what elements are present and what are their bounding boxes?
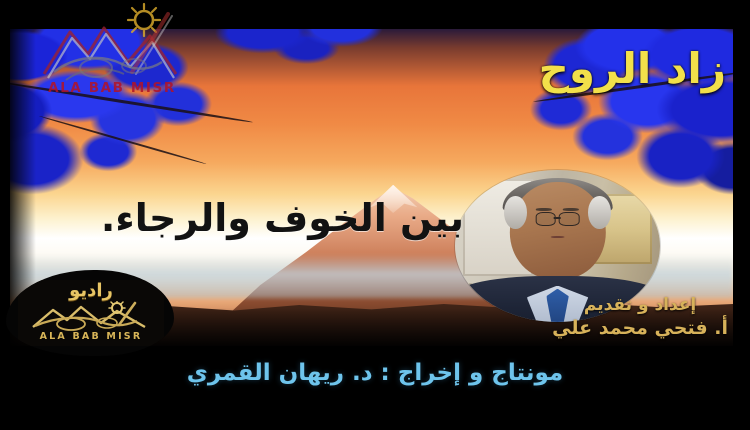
episode-title: بين الخوف والرجاء. (14, 198, 464, 240)
presenter-mouth (550, 236, 564, 238)
eyebrow-left (536, 208, 551, 211)
credits-role: إعداد و تقديم (552, 296, 728, 316)
video-frame: ALA BAB MISR زاد الروح بين الخوف والرجاء… (0, 0, 750, 430)
glasses-lens-left (535, 212, 556, 226)
credits-name: أ. فتحي محمد علي (552, 318, 728, 340)
glasses-icon (535, 212, 579, 224)
radio-logo-mark-icon (25, 301, 157, 335)
radio-word-label: راديو (69, 282, 113, 300)
eyebrow-right (563, 208, 578, 211)
credits-block: إعداد و تقديم أ. فتحي محمد علي (552, 296, 728, 339)
presenter-hair-side-right (588, 196, 611, 229)
radio-logo-badge: راديو (6, 270, 174, 356)
bottom-credit: مونتاج و إخراج : د. ريهان القمري (0, 362, 750, 385)
radio-logo-inner: راديو (18, 280, 164, 346)
glasses-lens-right (559, 212, 580, 226)
glasses-bridge (554, 217, 561, 219)
presenter-face (509, 182, 605, 279)
presenter-hair-side-left (504, 196, 527, 229)
mountain-sun-logo-gold-icon (25, 301, 157, 335)
show-title: زاد الروح (539, 48, 726, 90)
